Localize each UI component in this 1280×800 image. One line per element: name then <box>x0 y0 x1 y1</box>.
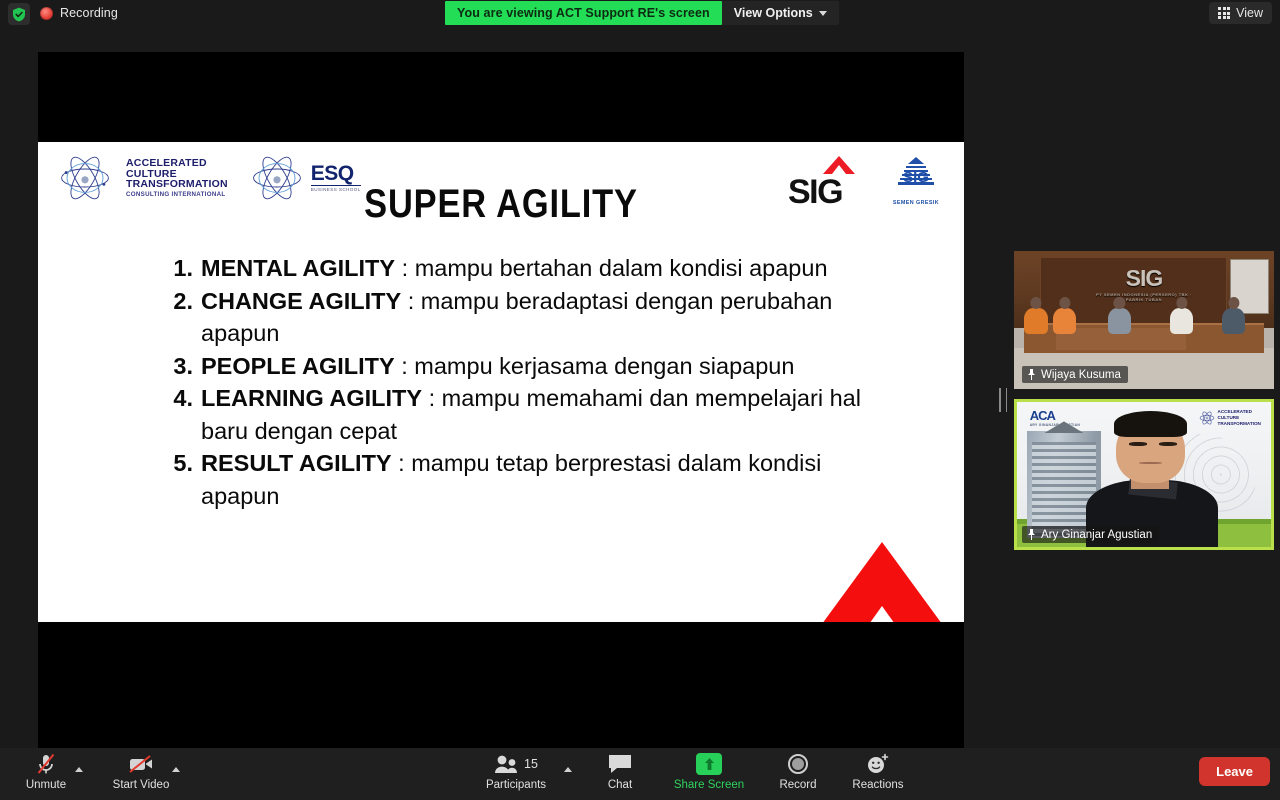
chevron-down-icon <box>819 11 827 16</box>
semen-gresik-temple-icon: SIG <box>893 156 939 194</box>
view-button-label: View <box>1236 6 1263 20</box>
list-item-number: 3. <box>163 350 193 383</box>
share-screen-label: Share Screen <box>674 779 744 791</box>
people-icon <box>494 754 520 774</box>
list-item-separator: : <box>392 450 412 476</box>
participants-label: Participants <box>486 779 546 791</box>
participant-name-tag: Ary Ginanjar Agustian <box>1022 526 1159 543</box>
unmute-button[interactable]: Unmute <box>18 752 74 798</box>
meeting-toolbar: Unmute Start Video 15 Participants <box>0 748 1280 800</box>
agility-list-item: 3.PEOPLE AGILITY : mampu kerjasama denga… <box>163 350 863 383</box>
list-item-number: 1. <box>163 252 193 285</box>
list-item-term: RESULT AGILITY <box>201 450 392 476</box>
encryption-shield-icon[interactable] <box>8 3 30 25</box>
list-item-number: 4. <box>163 382 193 415</box>
record-label: Record <box>779 779 816 791</box>
agility-list-item: 1.MENTAL AGILITY : mampu bertahan dalam … <box>163 252 863 285</box>
chevron-up-icon <box>564 767 572 772</box>
chat-button[interactable]: Chat <box>592 752 648 798</box>
start-video-button[interactable]: Start Video <box>106 752 176 798</box>
participants-icon-group: 15 <box>494 752 538 776</box>
agility-list-item: 5.RESULT AGILITY : mampu tetap berpresta… <box>163 447 863 512</box>
agility-list-item: 2.CHANGE AGILITY : mampu beradaptasi den… <box>163 285 863 350</box>
presentation-slide: ACCELERATED CULTURE TRANSFORMATION CONSU… <box>38 142 964 622</box>
video-options-caret[interactable] <box>169 762 183 776</box>
leave-button[interactable]: Leave <box>1199 757 1270 786</box>
list-item-description: mampu bertahan dalam kondisi apapun <box>415 255 828 281</box>
list-item-description: mampu kerjasama dengan siapapun <box>414 353 794 379</box>
reactions-button[interactable]: Reactions <box>840 752 916 798</box>
list-item-separator: : <box>401 288 421 314</box>
list-item-term: LEARNING AGILITY <box>201 385 422 411</box>
participant-thumbnail-active[interactable]: ACAARY GINANJAR AGUSTIAN ACCELERATEDCULT… <box>1014 399 1274 550</box>
participants-count: 15 <box>524 757 538 771</box>
pin-icon <box>1027 369 1036 380</box>
chat-bubble-icon <box>607 752 633 776</box>
participant-thumbnail[interactable]: SIGPT SEMEN INDONESIA (PERSERO) TBK · PA… <box>1014 251 1274 389</box>
top-bar: Recording You are viewing ACT Support RE… <box>0 0 1280 26</box>
participants-options-caret[interactable] <box>561 762 575 776</box>
record-button[interactable]: Record <box>768 752 828 798</box>
share-screen-button[interactable]: Share Screen <box>660 752 758 798</box>
agility-list-item: 4.LEARNING AGILITY : mampu memahami dan … <box>163 382 863 447</box>
view-options-button[interactable]: View Options <box>722 1 839 25</box>
reactions-smiley-icon <box>866 752 890 776</box>
list-item-term: MENTAL AGILITY <box>201 255 395 281</box>
svg-text:SIG: SIG <box>903 169 929 186</box>
recording-label: Recording <box>60 6 118 20</box>
chevron-up-icon <box>172 767 180 772</box>
list-item-separator: : <box>395 353 415 379</box>
agility-list: 1.MENTAL AGILITY : mampu bertahan dalam … <box>163 252 863 512</box>
list-item-term: PEOPLE AGILITY <box>201 353 395 379</box>
list-item-separator: : <box>395 255 415 281</box>
chat-label: Chat <box>608 779 632 791</box>
recording-indicator[interactable]: Recording <box>40 3 118 23</box>
view-layout-button[interactable]: View <box>1209 2 1272 24</box>
view-options-label: View Options <box>734 6 813 20</box>
grid-icon <box>1218 7 1230 19</box>
participants-button[interactable]: 15 Participants <box>478 752 554 798</box>
camera-off-icon <box>127 752 155 776</box>
recording-dot-icon <box>40 7 53 20</box>
pin-icon <box>1027 529 1036 540</box>
shared-screen-area[interactable]: ACCELERATED CULTURE TRANSFORMATION CONSU… <box>38 52 964 748</box>
participant-name: Wijaya Kusuma <box>1041 369 1121 381</box>
list-item-term: CHANGE AGILITY <box>201 288 401 314</box>
panel-resize-handle[interactable] <box>999 388 1007 412</box>
list-item-separator: : <box>422 385 442 411</box>
unmute-label: Unmute <box>26 779 66 791</box>
act-mini-logo: ACCELERATEDCULTURETRANSFORMATION <box>1199 409 1261 426</box>
sig-chevron-icon <box>822 155 856 175</box>
audio-options-caret[interactable] <box>72 762 86 776</box>
chevron-up-icon <box>75 767 83 772</box>
record-circle-icon <box>787 752 809 776</box>
slide-title: SUPER AGILITY <box>103 182 899 227</box>
participant-name-tag: Wijaya Kusuma <box>1022 366 1128 383</box>
participant-name: Ary Ginanjar Agustian <box>1041 529 1152 541</box>
list-item-number: 5. <box>163 447 193 480</box>
start-video-label: Start Video <box>113 779 170 791</box>
esq-wordmark: ESQ <box>311 164 361 184</box>
list-item-number: 2. <box>163 285 193 318</box>
viewing-screen-banner: You are viewing ACT Support RE's screen <box>445 1 722 25</box>
sig-chevron-graphic <box>800 542 964 622</box>
share-screen-icon <box>696 752 722 776</box>
aca-logo: ACAARY GINANJAR AGUSTIAN <box>1030 408 1080 427</box>
reactions-label: Reactions <box>852 779 903 791</box>
microphone-muted-icon <box>35 752 57 776</box>
viewing-banner-group: You are viewing ACT Support RE's screen … <box>445 1 839 25</box>
